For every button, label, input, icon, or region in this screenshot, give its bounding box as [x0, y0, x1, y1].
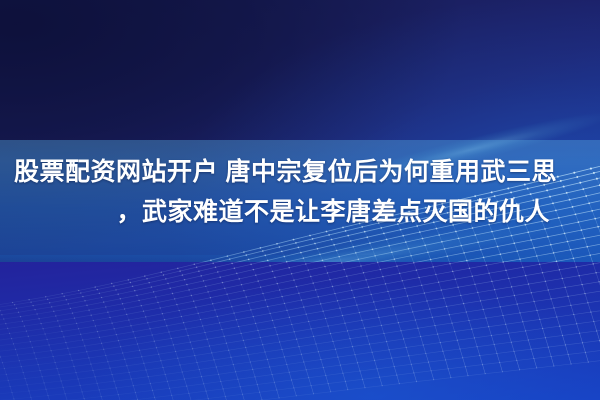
bottom-slab-glow — [0, 262, 600, 400]
headline-text: 股票配资网站开户 唐中宗复位后为何重用武三思 ，武家难道不是让李唐差点灭国的仇人 — [0, 152, 600, 232]
headline-line-2: ，武家难道不是让李唐差点灭国的仇人 — [14, 192, 586, 232]
headline-line-1: 股票配资网站开户 唐中宗复位后为何重用武三思 — [14, 152, 586, 192]
banner-image: 股票配资网站开户 唐中宗复位后为何重用武三思 ，武家难道不是让李唐差点灭国的仇人 — [0, 0, 600, 400]
